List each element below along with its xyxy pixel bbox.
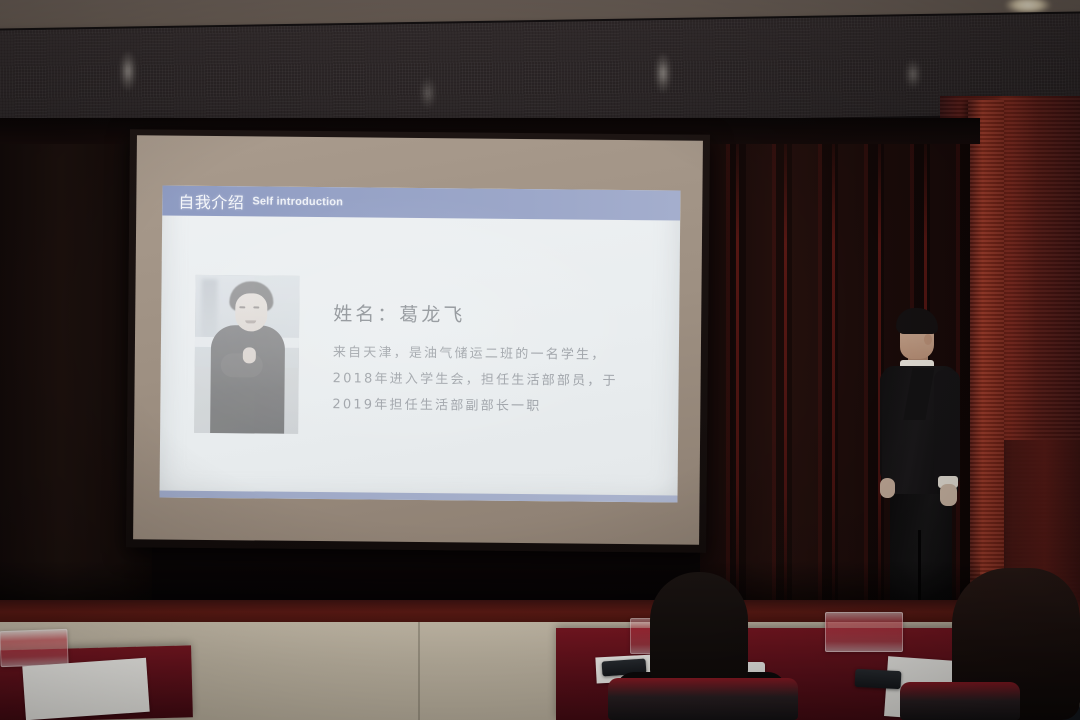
- presenter-hand: [880, 478, 895, 498]
- portrait-arm: [221, 353, 263, 377]
- led-band-reflection: [905, 60, 921, 88]
- curtain-fold: [784, 118, 787, 618]
- slide-title-chinese: 自我介绍: [178, 189, 244, 214]
- auditorium-photo: 自我介绍 Self introduction: [0, 0, 1080, 720]
- portrait-face: [235, 293, 267, 331]
- portrait-hand: [243, 347, 256, 363]
- led-band-reflection: [120, 52, 136, 90]
- portrait-eye: [239, 306, 245, 308]
- name-card-holder: [0, 629, 69, 667]
- slide-body: 姓名：葛龙飞 来自天津，是油气储运二班的一名学生，2018年进入学生会，担任生活…: [160, 216, 681, 497]
- slide: 自我介绍 Self introduction: [159, 186, 680, 503]
- slide-text-column: 姓名：葛龙飞 来自天津，是油气储运二班的一名学生，2018年进入学生会，担任生活…: [332, 293, 657, 421]
- curtain-fold: [736, 118, 739, 618]
- slide-title-english: Self introduction: [252, 195, 343, 209]
- screen-border: 自我介绍 Self introduction: [133, 135, 703, 544]
- slide-description-text: 来自天津，是油气储运二班的一名学生，2018年进入学生会，担任生活部部员，于20…: [332, 340, 623, 421]
- audience-chair: [900, 682, 1020, 720]
- presenter-hair: [896, 308, 938, 334]
- presenter-ear: [924, 334, 932, 345]
- projection-screen: 自我介绍 Self introduction: [126, 129, 710, 553]
- portrait-eye: [253, 306, 259, 308]
- audience-head: [650, 572, 748, 692]
- slide-portrait-photo: [194, 275, 300, 434]
- slide-name-line: 姓名：葛龙飞: [333, 299, 657, 329]
- mobile-phone: [855, 669, 902, 689]
- curtain-fold: [832, 118, 835, 618]
- audience-chair: [608, 678, 798, 720]
- slide-header-bar: 自我介绍 Self introduction: [162, 186, 680, 221]
- led-band-reflection: [420, 78, 436, 108]
- presenter-front-arm: [934, 370, 960, 486]
- presenter-hand: [940, 484, 957, 506]
- paper-sheet: [22, 658, 149, 720]
- portrait-mouth: [245, 320, 256, 323]
- wall-tile-seam: [418, 622, 420, 720]
- led-band-reflection: [655, 54, 671, 92]
- portrait-background-tree: [201, 279, 218, 339]
- portrait-torso: [210, 325, 285, 434]
- name-card-holder: [825, 612, 903, 652]
